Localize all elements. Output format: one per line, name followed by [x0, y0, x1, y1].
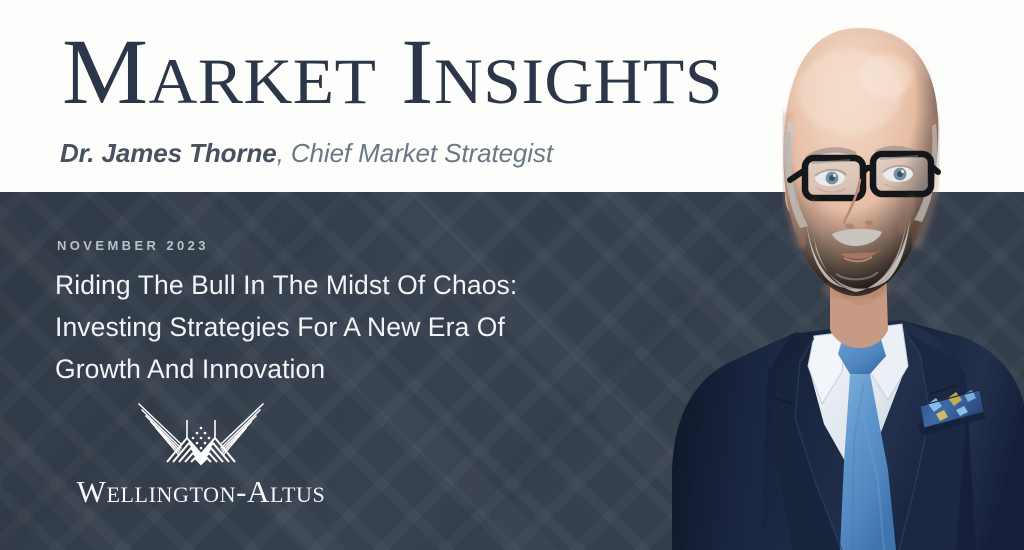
masthead-band: Market Insights Dr. James Thorne, Chief …	[0, 0, 1024, 192]
wellington-altus-logo: Wellington-Altus	[56, 398, 346, 510]
article-headline: Riding The Bull In The Midst Of Chaos: I…	[55, 264, 575, 390]
logo-wordmark: Wellington-Altus	[56, 474, 346, 510]
byline: Dr. James Thorne, Chief Market Strategis…	[60, 138, 553, 169]
byline-role: , Chief Market Strategist	[277, 138, 553, 168]
market-insights-banner: Market Insights Dr. James Thorne, Chief …	[0, 0, 1024, 550]
byline-name: Dr. James Thorne	[60, 138, 277, 168]
wellington-altus-w-chevron-icon	[137, 398, 265, 470]
page-title: Market Insights	[62, 26, 1008, 119]
issue-date: NOVEMBER 2023	[57, 238, 209, 253]
